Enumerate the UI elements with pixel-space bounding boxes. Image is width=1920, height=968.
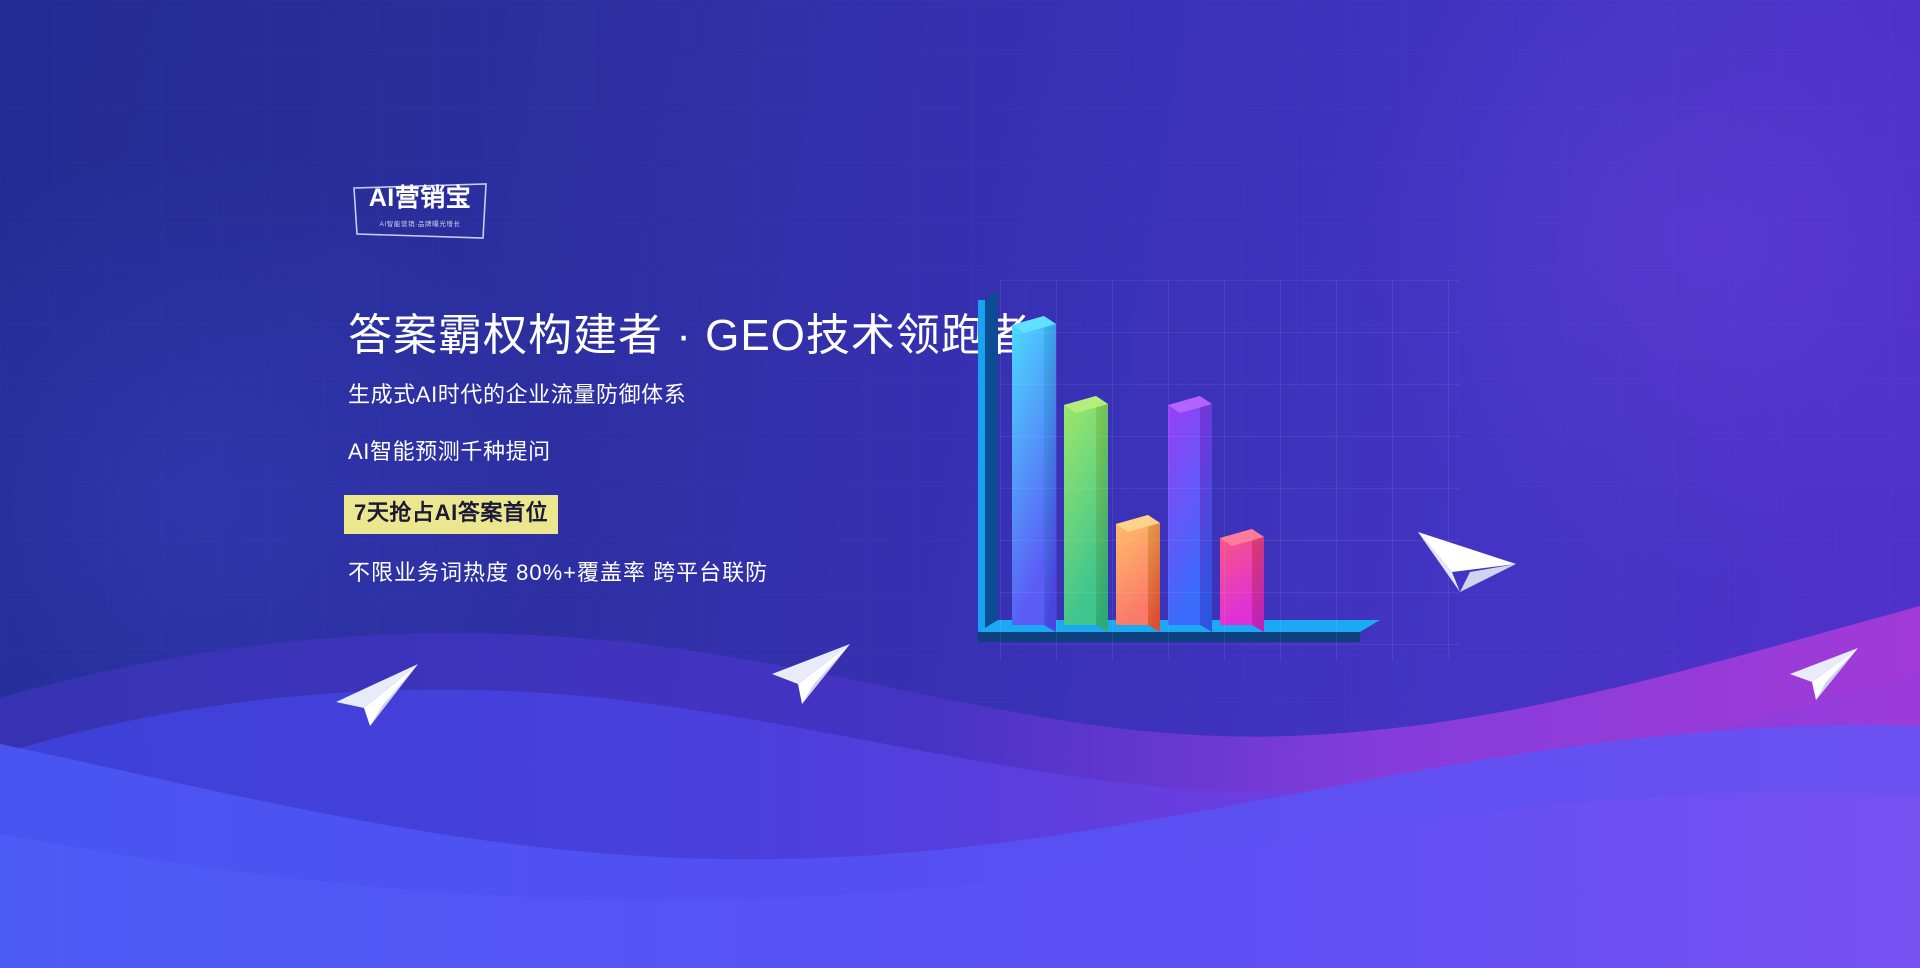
chart-canvas [960, 280, 1460, 680]
hero-banner: AI营销宝 AI智能营销·品牌曝光增长 答案霸权构建者 · GEO技术领跑者 生… [0, 0, 1920, 968]
paper-plane-icon [768, 640, 852, 710]
paper-plane-icon [1412, 516, 1520, 598]
bar-chart [960, 280, 1460, 680]
paper-plane-icon [330, 660, 420, 730]
paper-plane-icon [1786, 644, 1862, 706]
brand-logo[interactable]: AI营销宝 AI智能营销·品牌曝光增长 [352, 182, 488, 240]
hero-highlight-badge: 7天抢占AI答案首位 [344, 495, 558, 533]
logo-tagline: AI智能营销·品牌曝光增长 [352, 218, 488, 228]
logo-wordmark: AI营销宝 [352, 186, 488, 211]
